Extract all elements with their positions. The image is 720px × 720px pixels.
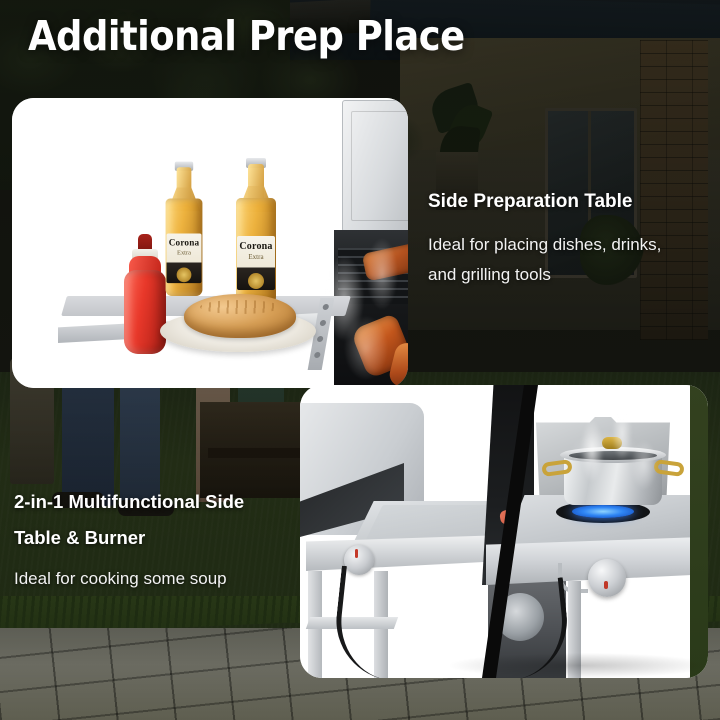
beer-brand-text: Corona [239, 241, 272, 252]
beer-brand-text: Corona [169, 238, 200, 248]
feature-block-side-preparation-table: Side Preparation Table Ideal for placing… [428, 188, 702, 290]
burner-control-knob[interactable] [588, 559, 626, 597]
beer-subtitle-text: Extra [248, 253, 263, 261]
baked-pastry [184, 294, 296, 338]
ketchup-bottle [124, 236, 166, 354]
grass-sliver [690, 385, 708, 678]
bottle-label: Corona Extra [167, 233, 202, 283]
feature-title-line-2: Table & Burner [14, 520, 300, 556]
feature-body: Ideal for cooking some soup [14, 564, 300, 594]
feature-body-line-1: Ideal for cooking some soup [14, 564, 300, 594]
grill-lid [342, 100, 408, 232]
feature-body-line-1: Ideal for placing dishes, drinks, [428, 230, 702, 260]
beer-bottle-1: Corona Extra [166, 156, 203, 296]
gas-hose-left [330, 566, 411, 678]
steam-plume [550, 395, 680, 515]
feature-body-line-2: and grilling tools [428, 260, 702, 290]
page-title: Additional Prep Place [28, 16, 465, 57]
beer-crest-icon [177, 267, 192, 282]
promo-image-canvas: Additional Prep Place [0, 0, 720, 720]
beer-subtitle-text: Extra [177, 249, 191, 256]
feature-block-two-in-one-side-table-burner: 2-in-1 Multifunctional Side Table & Burn… [14, 484, 300, 594]
feature-title: 2-in-1 Multifunctional Side Table & Burn… [14, 484, 300, 556]
beer-bottle-2: Corona Extra [236, 152, 276, 304]
ketchup-body [124, 270, 166, 354]
feature-body: Ideal for placing dishes, drinks, and gr… [428, 230, 702, 291]
side-preparation-table-photo: Corona Extra Corona Extra [12, 98, 408, 388]
bottle-label: Corona Extra [237, 236, 275, 290]
feature-title-line-1: 2-in-1 Multifunctional Side [14, 484, 300, 520]
side-table-and-burner-photo [300, 385, 708, 678]
feature-title: Side Preparation Table [428, 188, 702, 216]
beer-crest-icon [248, 273, 264, 289]
side-table-front [306, 535, 506, 571]
